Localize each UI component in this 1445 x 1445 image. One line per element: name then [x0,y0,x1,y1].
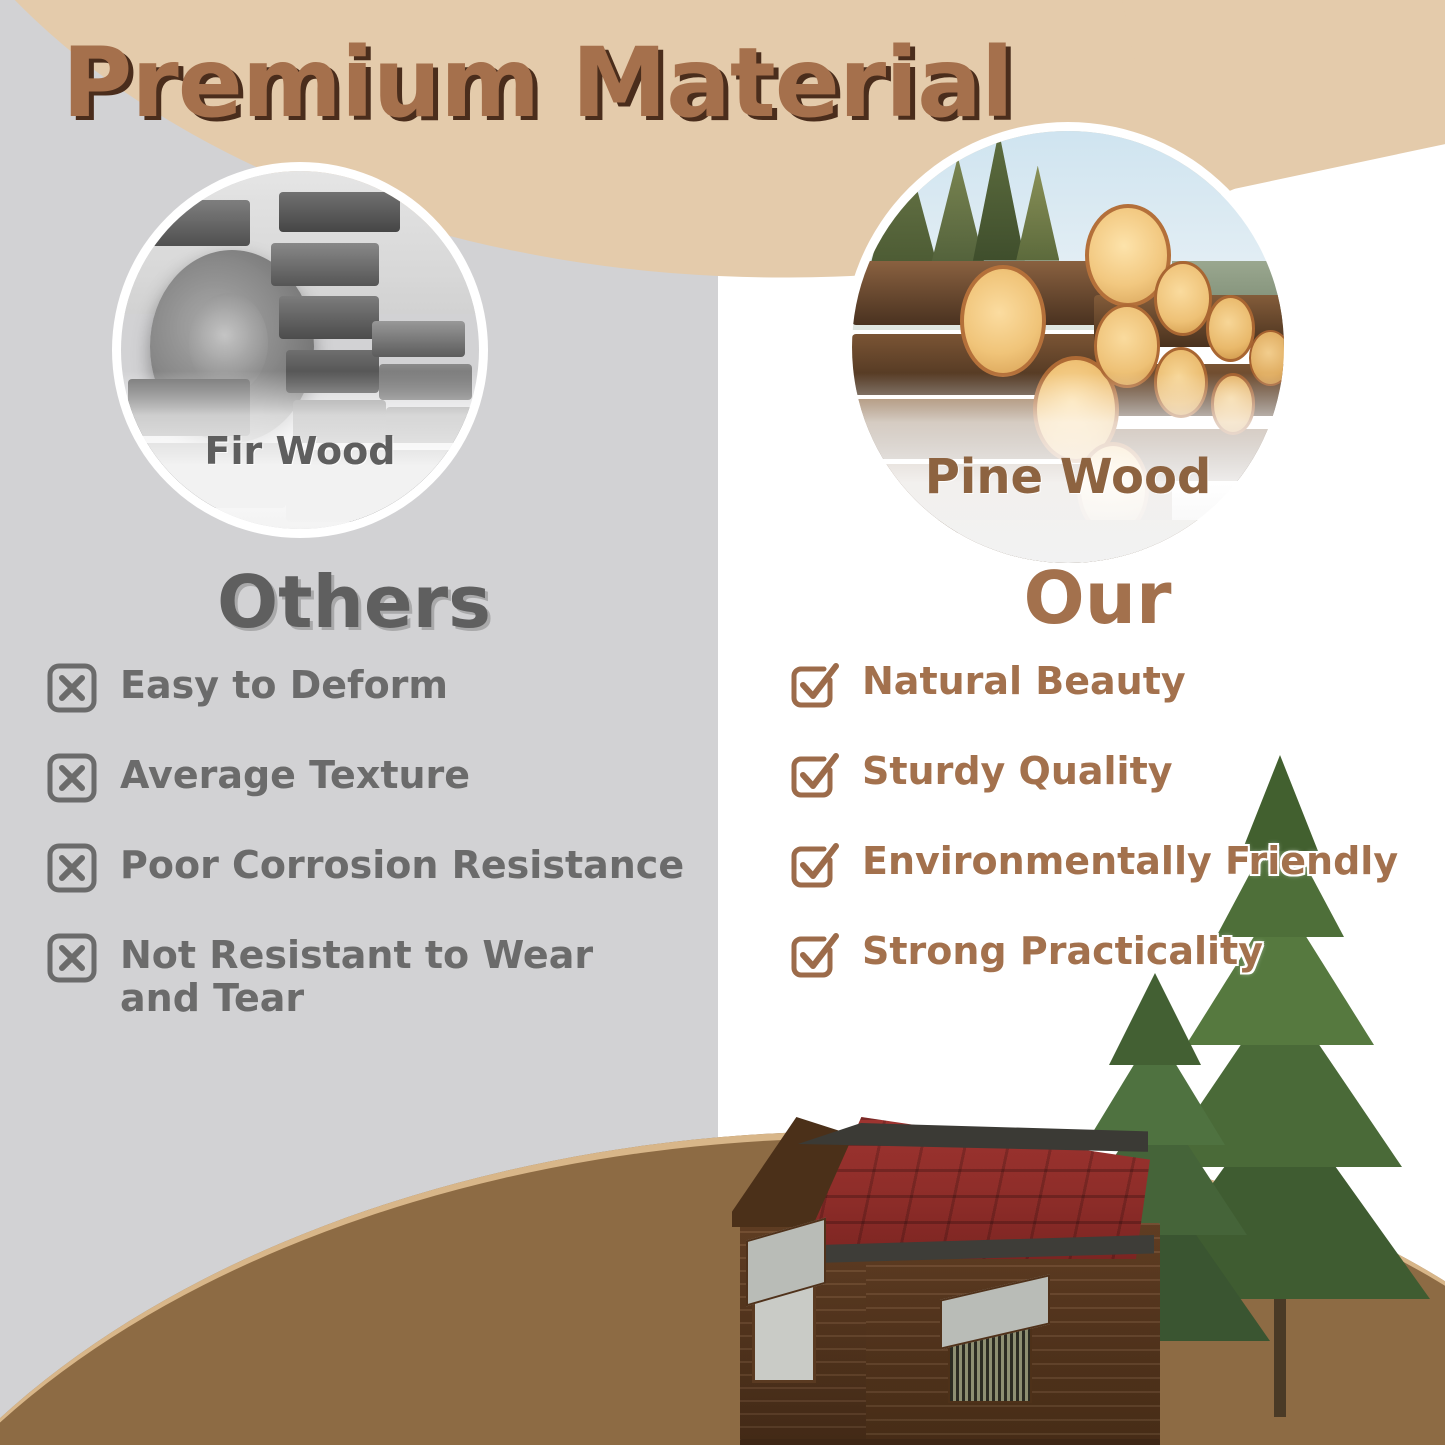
x-box-icon [46,752,98,804]
list-item: Average Texture [0,750,718,804]
list-item-label: Easy to Deform [120,660,448,707]
column-heading-our: Our [750,562,1445,634]
premium-material-poster: Premium Material [0,0,1445,1445]
product-scene [700,1025,1445,1445]
badge-fir-wood: Fir Wood [121,171,479,529]
wooden-dog-house-icon [740,1115,1160,1445]
x-box-icon [46,932,98,984]
list-item: Natural Beauty [718,656,1445,710]
pine-wood-photo: Pine Wood [852,131,1284,563]
list-item-label: Strong Practicality [862,926,1263,973]
x-box-icon [46,842,98,894]
list-item-label: Environmentally Friendly [862,836,1398,883]
list-item: Poor Corrosion Resistance [0,840,718,894]
list-item-label: Natural Beauty [862,656,1186,703]
fir-wood-photo: Fir Wood [121,171,479,529]
others-item-list: Easy to Deform Average Texture [0,660,718,1019]
column-heading-others: Others [0,566,718,638]
list-item: Environmentally Friendly [718,836,1445,890]
badge-pine-wood: Pine Wood [852,131,1284,563]
list-item-label: Not Resistant to Wear and Tear [120,930,640,1019]
check-box-icon [788,658,840,710]
badge-label-fir-wood: Fir Wood [121,429,479,473]
list-item-label: Average Texture [120,750,470,797]
list-item: Not Resistant to Wear and Tear [0,930,718,1019]
list-item: Strong Practicality [718,926,1445,980]
check-box-icon [788,838,840,890]
comparison-column-our: Our Natural Beauty Sturd [718,562,1445,1016]
list-item: Sturdy Quality [718,746,1445,800]
x-box-icon [46,662,98,714]
check-box-icon [788,748,840,800]
list-item-label: Poor Corrosion Resistance [120,840,684,887]
page-title: Premium Material [62,27,1013,139]
list-item-label: Sturdy Quality [862,746,1173,793]
comparison-column-others: Others Easy to Deform Av [0,566,718,1055]
badge-label-pine-wood: Pine Wood [852,449,1284,505]
list-item: Easy to Deform [0,660,718,714]
check-box-icon [788,928,840,980]
